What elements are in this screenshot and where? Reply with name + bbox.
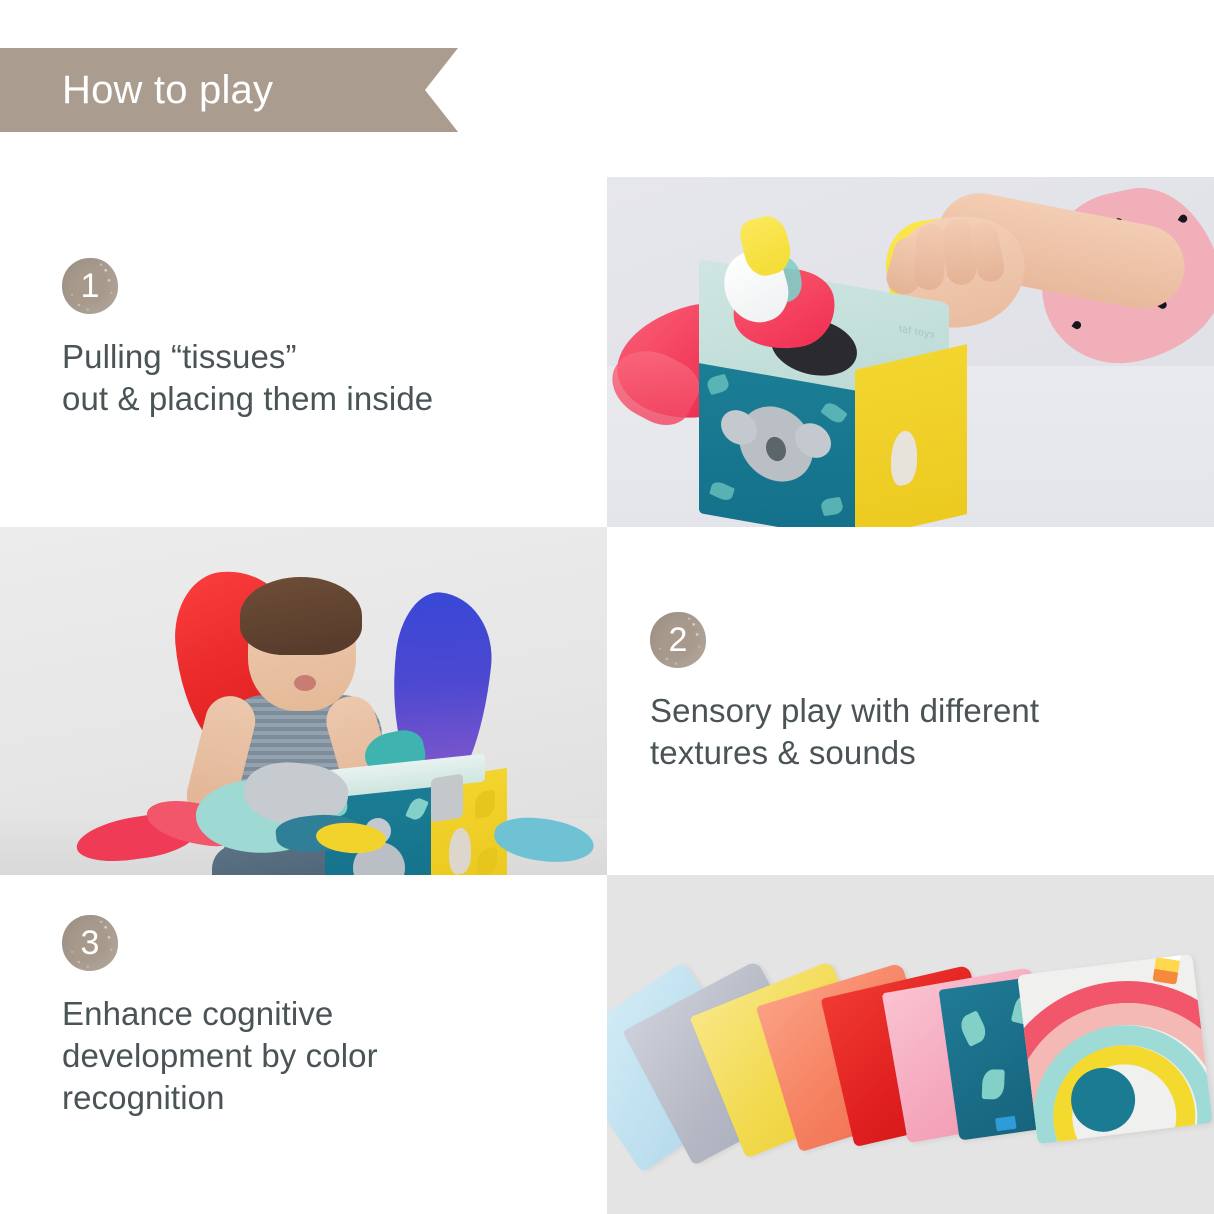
infographic-page: How to play 1 Pulling “tissues” out & pl… (0, 0, 1214, 1214)
step-1-number: 1 (81, 269, 100, 303)
photo-toddler-playing (0, 527, 607, 875)
page-title: How to play (62, 70, 273, 110)
photo-scarves-fan (607, 875, 1214, 1214)
step-3-block: 3 Enhance cognitive development by color… (62, 915, 378, 1120)
step-2-text: Sensory play with different textures & s… (650, 690, 1039, 774)
step-3-badge: 3 (62, 915, 118, 971)
step-3-text: Enhance cognitive development by color r… (62, 993, 378, 1120)
photo-3-scene (607, 875, 1214, 1214)
box-2-clip (431, 773, 463, 822)
scarf-rainbow-print (1017, 954, 1212, 1144)
step-3-panel: 3 Enhance cognitive development by color… (0, 875, 607, 1214)
toddler-hair (240, 577, 362, 655)
step-1-block: 1 Pulling “tissues” out & placing them i… (62, 258, 433, 420)
photo-hand-pulling-tissue: taf toys (607, 177, 1214, 527)
step-1-badge: 1 (62, 258, 118, 314)
step-1-text: Pulling “tissues” out & placing them ins… (62, 336, 433, 420)
step-1-panel: 1 Pulling “tissues” out & placing them i… (0, 150, 607, 527)
photo-1-scene: taf toys (607, 177, 1214, 527)
how-to-play-ribbon: How to play (0, 48, 458, 132)
toddler-mouth (294, 675, 316, 691)
koala-tissue-box-2 (325, 762, 510, 875)
step-2-number: 2 (669, 623, 688, 657)
cockatoo-illustration-2 (449, 826, 471, 875)
photo-2-scene (0, 527, 607, 875)
step-2-panel: 2 Sensory play with different textures &… (607, 527, 1214, 875)
step-3-number: 3 (81, 926, 100, 960)
step-2-block: 2 Sensory play with different textures &… (650, 612, 1039, 774)
step-2-badge: 2 (650, 612, 706, 668)
rainbow-scarf-tag (1152, 954, 1181, 985)
